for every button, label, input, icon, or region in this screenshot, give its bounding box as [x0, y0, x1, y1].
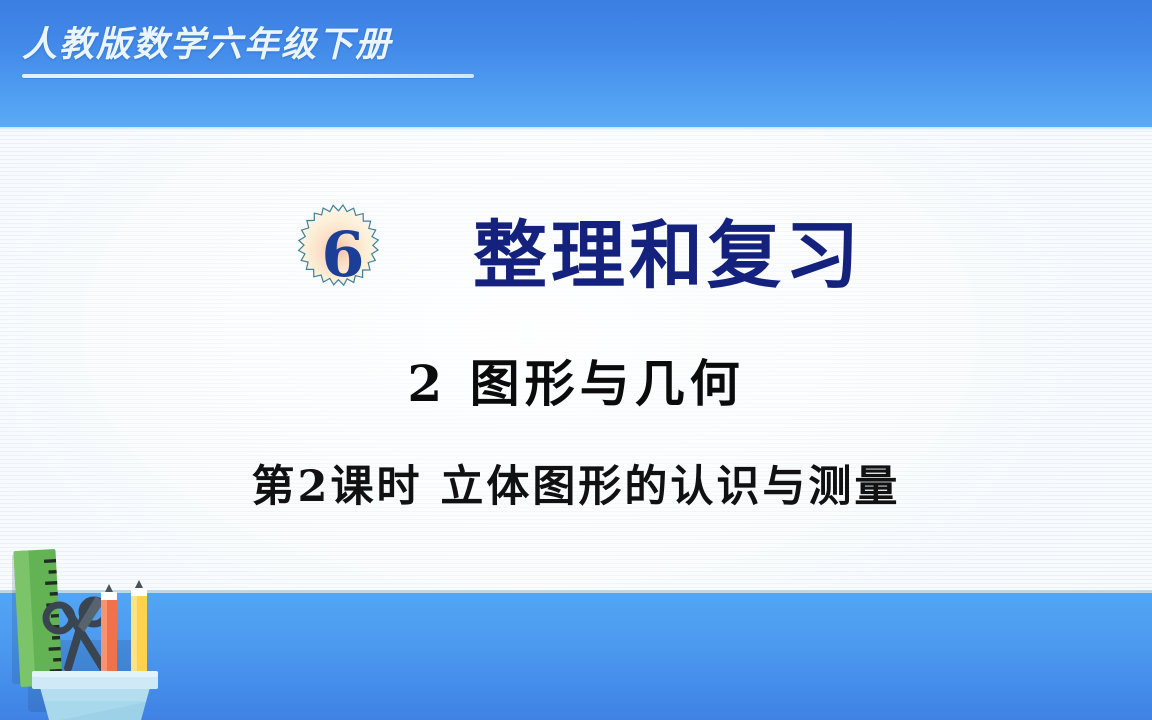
- stationery-illustration: [0, 540, 190, 720]
- unit-number-badge: 6: [289, 202, 397, 310]
- section-title: 2 图形与几何: [0, 344, 1152, 416]
- unit-title-text: 整理和复习: [473, 219, 863, 293]
- top-band-edge: [0, 127, 1152, 130]
- pencil-cup-icon: [32, 671, 158, 720]
- unit-number-text: 6: [289, 202, 397, 310]
- header-block: 人教版数学六年级下册: [22, 22, 492, 78]
- unit-title-row: 6 整理和复习: [0, 192, 1152, 320]
- green-ruler-icon: [13, 549, 62, 687]
- header-underline: [22, 74, 474, 78]
- orange-pencil-icon: [101, 584, 117, 686]
- lesson-title: 第2课时 立体图形的认识与测量: [0, 452, 1152, 514]
- yellow-pencil-icon: [131, 580, 147, 686]
- publisher-title: 人教版数学六年级下册: [22, 22, 492, 68]
- slide-canvas: 人教版数学六年级下册 6 整理和复习: [0, 0, 1152, 720]
